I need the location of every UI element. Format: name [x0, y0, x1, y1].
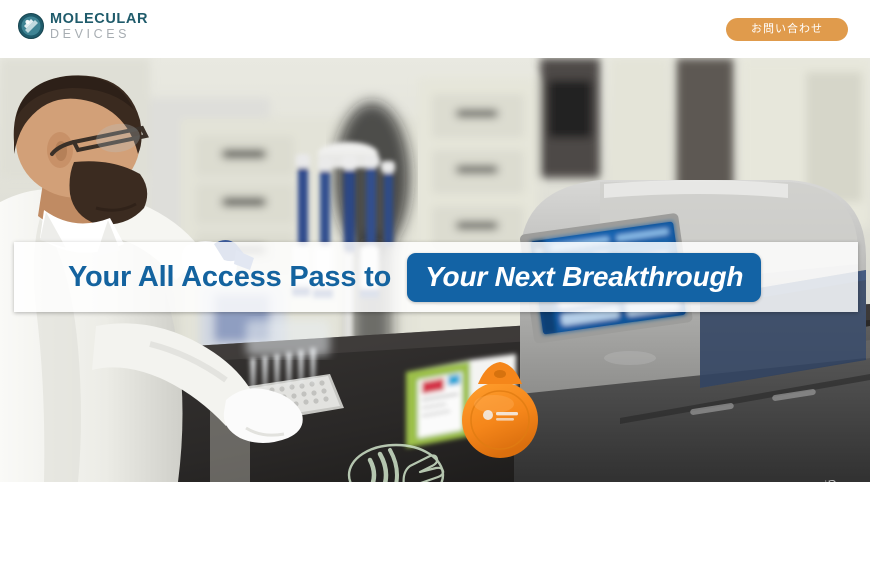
hero-headline-plain: Your All Access Pass to: [68, 261, 391, 294]
hero-banner[interactable]: Your All Access Pass to Your Next Breakt…: [0, 58, 870, 482]
molecular-devices-globe-icon: [18, 13, 44, 39]
hero-headline-emphasis: Your Next Breakthrough: [407, 253, 761, 302]
contact-us-button[interactable]: お問い合わせ: [726, 18, 848, 41]
hero-headline-band: Your All Access Pass to Your Next Breakt…: [14, 242, 858, 312]
logo-wordmark-secondary: DEVICES: [50, 28, 148, 41]
logo-wordmark-primary: MOLECULAR: [50, 12, 148, 27]
brand-logo[interactable]: MOLECULAR DEVICES: [18, 12, 148, 40]
site-header: MOLECULAR DEVICES お問い合わせ: [0, 0, 870, 58]
